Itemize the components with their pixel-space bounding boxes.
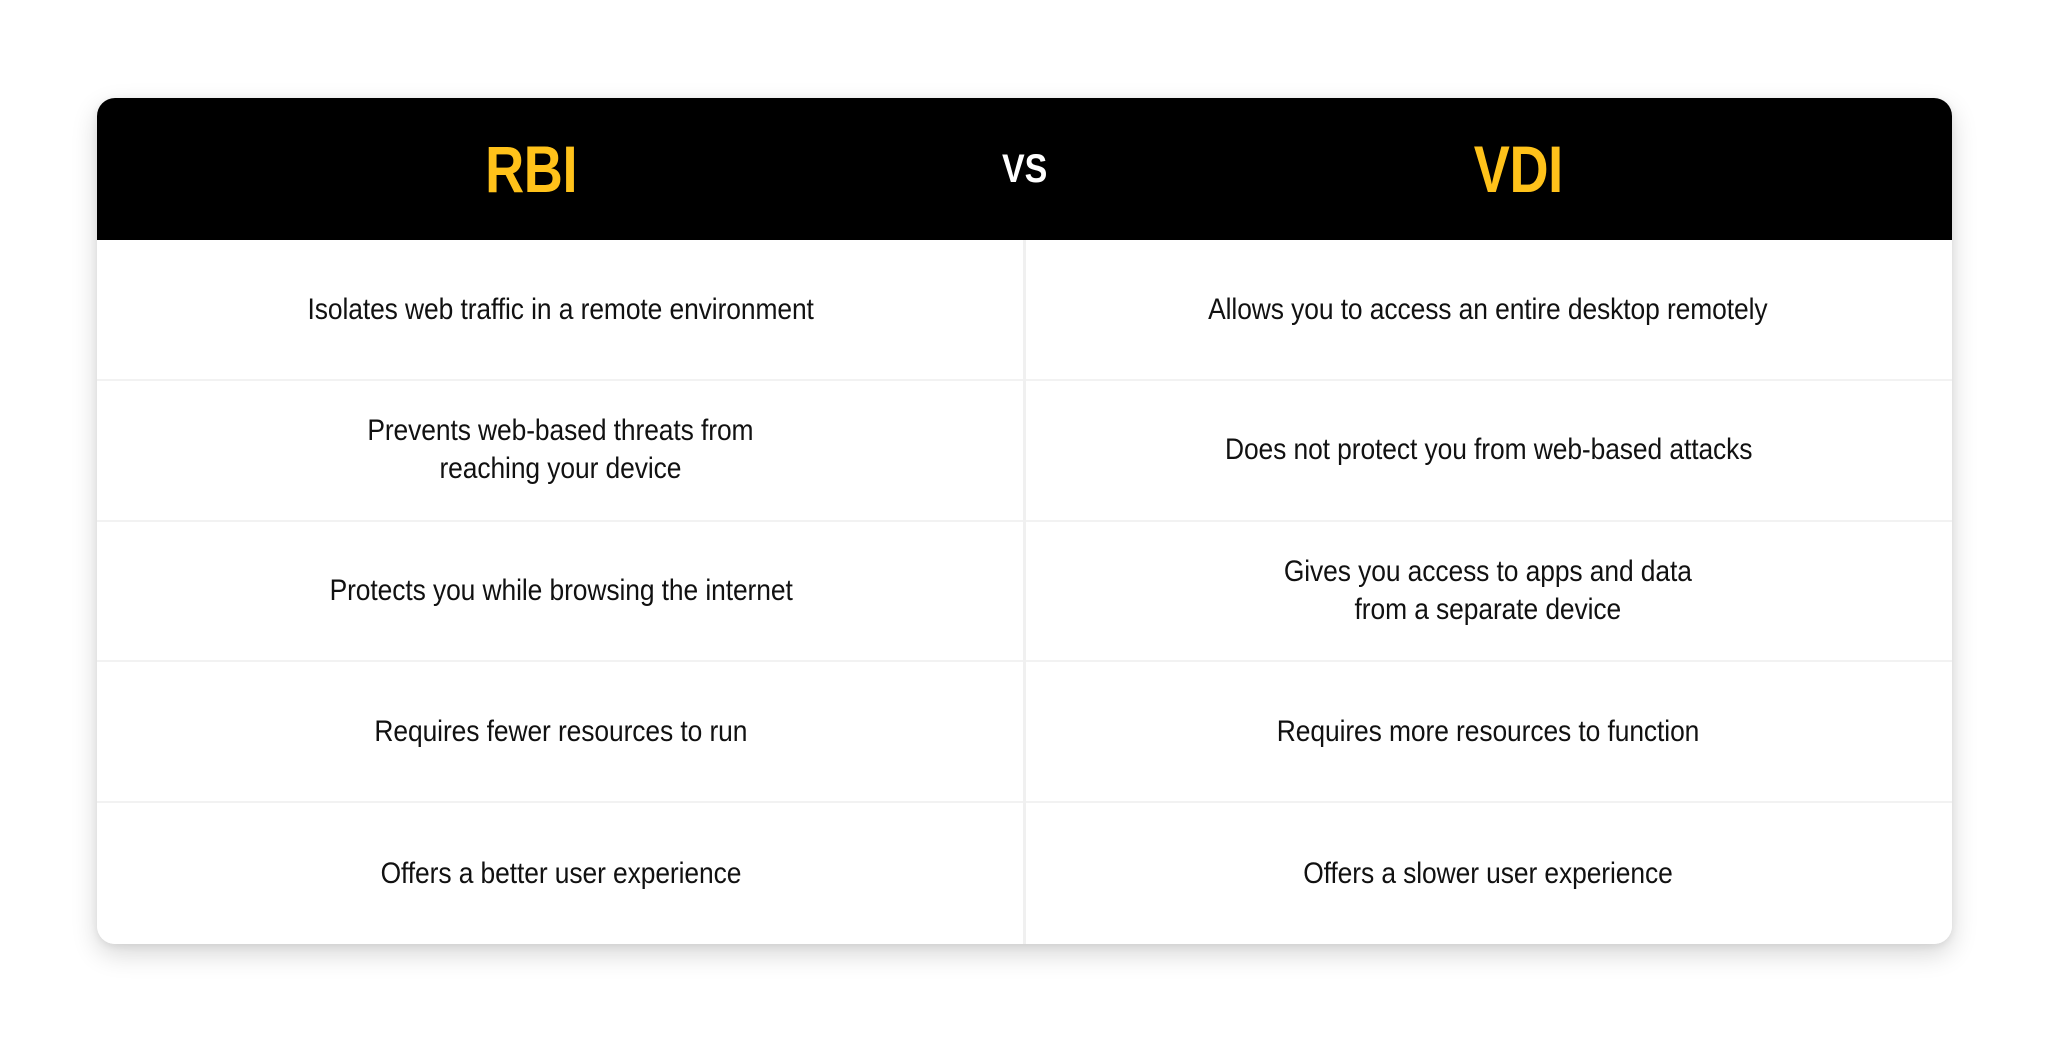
row-cell-vdi: Does not protect you from web-based atta… xyxy=(1025,381,1953,520)
column-divider xyxy=(1023,240,1026,944)
cell-text: Requires fewer resources to run xyxy=(374,713,747,751)
cell-text: Prevents web-based threats from reaching… xyxy=(368,412,754,488)
cell-text: Protects you while browsing the internet xyxy=(329,572,792,610)
header-cell-vs: VS xyxy=(965,98,1085,240)
row-cell-rbi: Prevents web-based threats from reaching… xyxy=(97,381,1025,520)
row-cell-vdi: Allows you to access an entire desktop r… xyxy=(1025,240,1953,379)
page-root: RBI VS VDI Isolates web traffic in a rem… xyxy=(0,0,2048,1037)
row-cell-vdi: Offers a slower user experience xyxy=(1025,803,1953,944)
row-cell-vdi: Requires more resources to function xyxy=(1025,662,1953,801)
row-cell-rbi: Offers a better user experience xyxy=(97,803,1025,944)
cell-text: Allows you to access an entire desktop r… xyxy=(1209,291,1768,329)
table-header: RBI VS VDI xyxy=(97,98,1952,240)
table-body: Isolates web traffic in a remote environ… xyxy=(97,240,1952,944)
cell-text: Offers a better user experience xyxy=(380,855,741,893)
header-vs-label: VS xyxy=(1002,149,1047,189)
header-cell-vdi: VDI xyxy=(1085,98,1953,240)
header-title-rbi: RBI xyxy=(485,136,577,202)
cell-text: Gives you access to apps and data from a… xyxy=(1284,553,1692,629)
cell-text: Does not protect you from web-based atta… xyxy=(1225,431,1752,469)
comparison-table-card: RBI VS VDI Isolates web traffic in a rem… xyxy=(97,98,1952,944)
cell-text: Requires more resources to function xyxy=(1277,713,1699,751)
header-cell-rbi: RBI xyxy=(97,98,965,240)
row-cell-vdi: Gives you access to apps and data from a… xyxy=(1025,522,1953,661)
row-cell-rbi: Requires fewer resources to run xyxy=(97,662,1025,801)
row-cell-rbi: Isolates web traffic in a remote environ… xyxy=(97,240,1025,379)
header-title-vdi: VDI xyxy=(1474,136,1563,202)
cell-text: Isolates web traffic in a remote environ… xyxy=(308,291,814,329)
cell-text: Offers a slower user experience xyxy=(1304,855,1673,893)
row-cell-rbi: Protects you while browsing the internet xyxy=(97,522,1025,661)
